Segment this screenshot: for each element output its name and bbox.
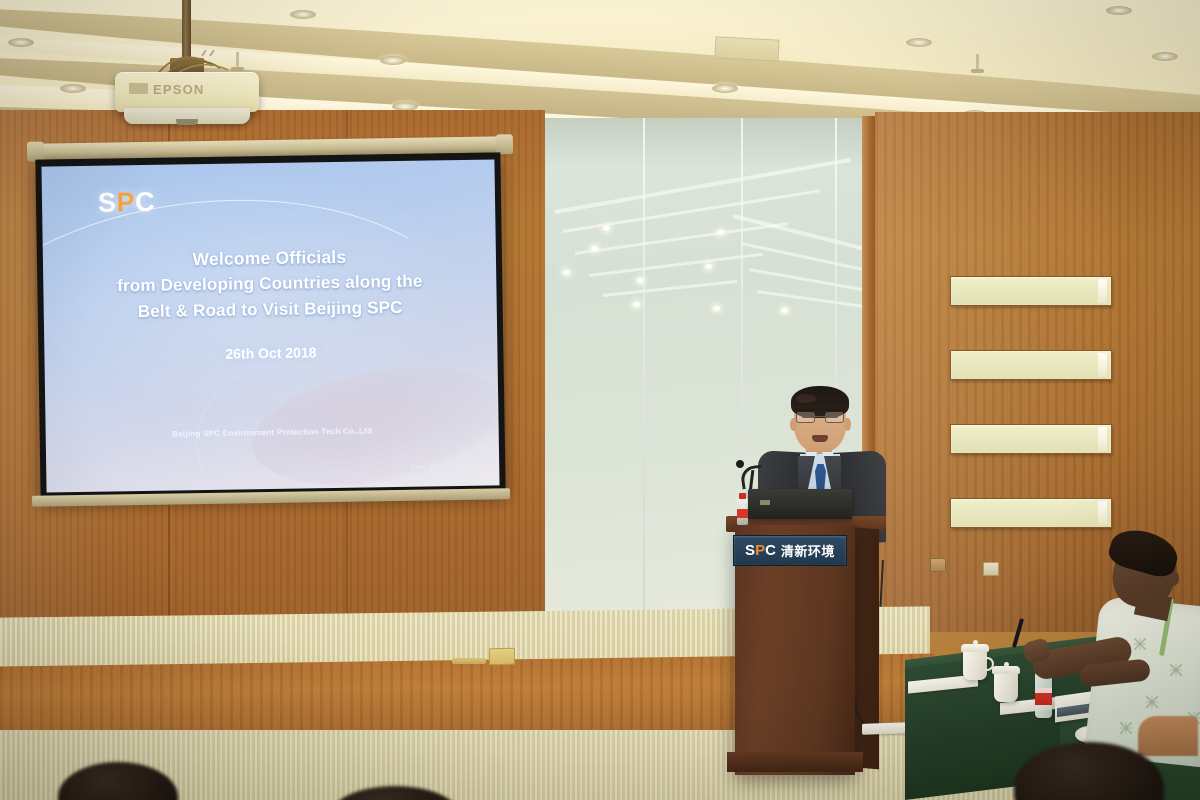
speaker-eyebrow	[826, 408, 841, 411]
slide-website-url: www.qingxin.com.cn	[410, 463, 479, 471]
ceiling-downlight	[290, 10, 316, 19]
projector-badge-icon	[129, 83, 148, 94]
logo-letter-c: C	[135, 187, 155, 217]
tea-cup[interactable]	[994, 672, 1018, 702]
reflected-light-dot	[591, 246, 598, 251]
ceiling-downlight	[60, 84, 86, 93]
logo-letter-s: S	[98, 187, 117, 217]
tea-cup-lid-knob	[973, 640, 978, 645]
wall-glass-inset-panel	[950, 276, 1112, 306]
glass-reflection	[589, 253, 763, 277]
podium-sign-spc-logo: SPC	[745, 542, 776, 559]
glass-reflection	[733, 214, 875, 254]
ceiling-downlight	[1152, 52, 1178, 61]
glass-reflection	[749, 268, 875, 293]
shirt-pattern-motif	[1120, 722, 1132, 734]
wall-power-socket	[930, 558, 946, 572]
wall-glass-inset-panel	[950, 424, 1112, 454]
ceiling-downlight	[712, 84, 738, 93]
power-strip	[862, 722, 910, 735]
projector: EPSON	[115, 72, 259, 112]
eyeglass-lens-right	[825, 412, 844, 423]
reflected-light-dot	[603, 226, 610, 231]
water-bottle[interactable]	[1035, 672, 1052, 718]
reflected-light-dot	[713, 306, 720, 311]
water-bottle[interactable]	[737, 498, 748, 525]
podium-logo-letter-s: S	[745, 542, 755, 559]
speaker-eyebrow	[799, 408, 814, 411]
podium-base	[727, 752, 863, 772]
floor-cable-cover	[452, 658, 486, 664]
bottle-label-stripe	[1035, 688, 1052, 693]
laptop-computer[interactable]	[748, 489, 852, 519]
glass-top-shading	[545, 118, 875, 168]
podium-brand-sign: SPC 清新环境	[733, 535, 847, 566]
eyeglasses-icon	[796, 412, 844, 423]
shirt-pattern-motif	[1146, 696, 1158, 708]
wall-glass-inset-panel	[950, 498, 1112, 528]
eyeglass-bridge	[815, 416, 825, 417]
slide-title: Welcome Officials from Developing Countr…	[43, 241, 497, 326]
shirt-pattern-motif	[1170, 664, 1182, 676]
speaker-ear	[844, 418, 851, 431]
wall-glass-inset-panel	[950, 350, 1112, 380]
ceiling-downlight	[906, 38, 932, 47]
floor-outlet-plate	[489, 648, 515, 665]
tea-cup-lid	[992, 666, 1020, 674]
glass-reflection	[757, 290, 872, 309]
bottle-cap	[739, 493, 746, 499]
projector-lens	[176, 119, 198, 125]
bottle-label	[737, 509, 748, 518]
ceiling-vent	[714, 36, 779, 61]
sprinkler-head	[976, 54, 979, 70]
eyeglass-lens-left	[796, 412, 815, 423]
reflected-light-dot	[781, 308, 788, 313]
reflected-light-dot	[717, 230, 724, 235]
speaker-mouth	[812, 435, 828, 442]
reflected-light-dot	[563, 270, 570, 275]
ceiling-downlight	[8, 38, 34, 47]
presentation-slide: SPC Welcome Officials from Developing Co…	[41, 159, 499, 492]
logo-letter-p: P	[116, 187, 135, 217]
laptop-logo-icon	[760, 500, 770, 505]
tea-cup-lid	[961, 644, 989, 652]
tea-cup-lid-knob	[1004, 662, 1009, 667]
projection-screen: SPC Welcome Officials from Developing Co…	[35, 152, 505, 499]
ceiling-downlight	[1106, 6, 1132, 15]
slide-spc-logo: SPC	[98, 187, 156, 219]
conference-room-photo: SPC Welcome Officials from Developing Co…	[0, 0, 1200, 800]
podium-logo-letter-p: P	[755, 542, 765, 559]
projector-brand-label: EPSON	[153, 82, 205, 97]
reflected-light-dot	[633, 302, 640, 307]
tea-cup[interactable]	[963, 650, 987, 680]
ceiling-downlight	[380, 56, 406, 65]
reflected-light-dot	[705, 264, 712, 269]
glass-mullion	[643, 118, 645, 630]
wall-power-socket	[983, 562, 999, 576]
podium-sign-chinese-text: 清新环境	[781, 541, 835, 560]
microphone-head	[736, 460, 744, 468]
podium-logo-letter-c: C	[765, 542, 776, 559]
shirt-pattern-motif	[1134, 638, 1146, 650]
audience-hand	[1138, 716, 1198, 756]
glass-reflection	[603, 280, 738, 297]
